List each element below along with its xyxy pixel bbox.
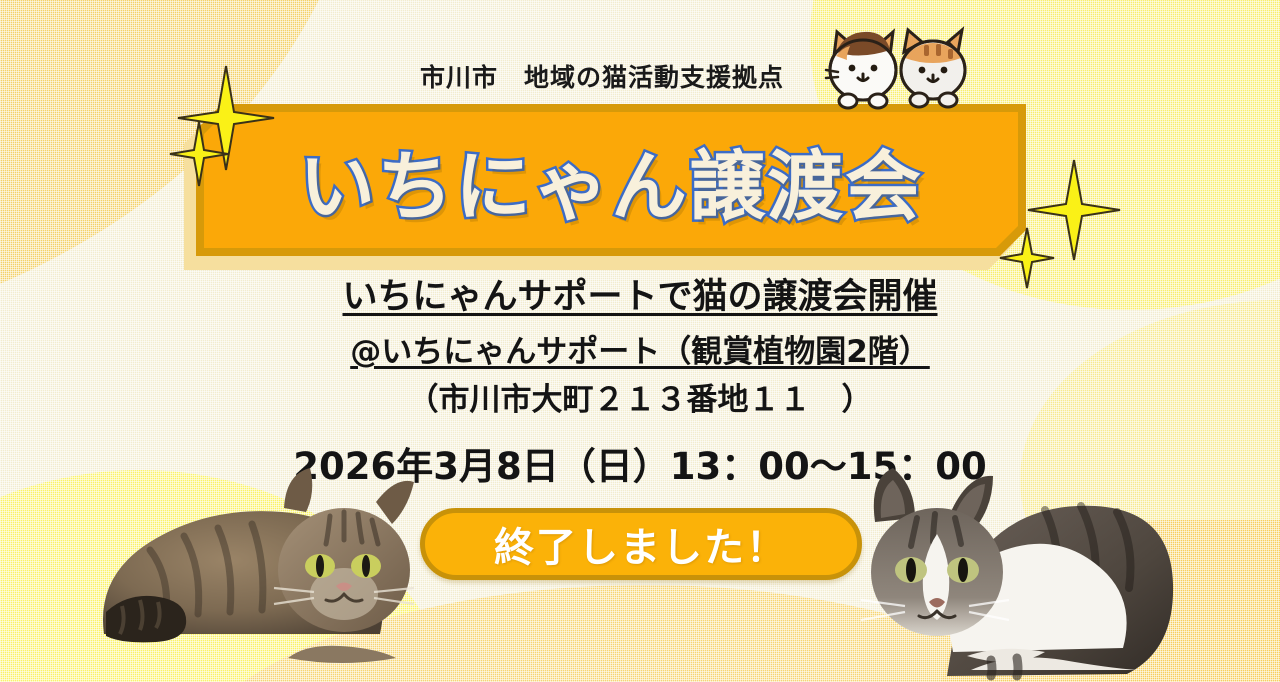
- banner-title-text: いちにゃん譲渡会: [196, 104, 1026, 256]
- event-details-block: いちにゃんサポートで猫の譲渡会開催 @いちにゃんサポート（観賞植物園2階） （市…: [0, 268, 1280, 490]
- event-address: （市川市大町２１３番地１１ ）: [0, 374, 1280, 419]
- organization-label: 市川市 地域の猫活動支援拠点: [420, 58, 784, 94]
- white-tabby-cat-photo: [845, 460, 1185, 682]
- two-cartoon-cats-icon: [812, 8, 982, 113]
- status-badge-label: 終了しました！: [494, 515, 788, 573]
- event-venue: @いちにゃんサポート（観賞植物園2階）: [0, 326, 1280, 371]
- main-title-banner: いちにゃん譲渡会: [196, 104, 1026, 256]
- tabby-cat-photo: [92, 462, 422, 682]
- status-badge[interactable]: 終了しました！: [420, 508, 862, 580]
- poster-canvas: 市川市 地域の猫活動支援拠点: [0, 0, 1280, 682]
- sparkle-star-icon: [168, 120, 230, 192]
- sparkle-star-icon: [998, 226, 1056, 294]
- event-headline: いちにゃんサポートで猫の譲渡会開催: [0, 268, 1280, 319]
